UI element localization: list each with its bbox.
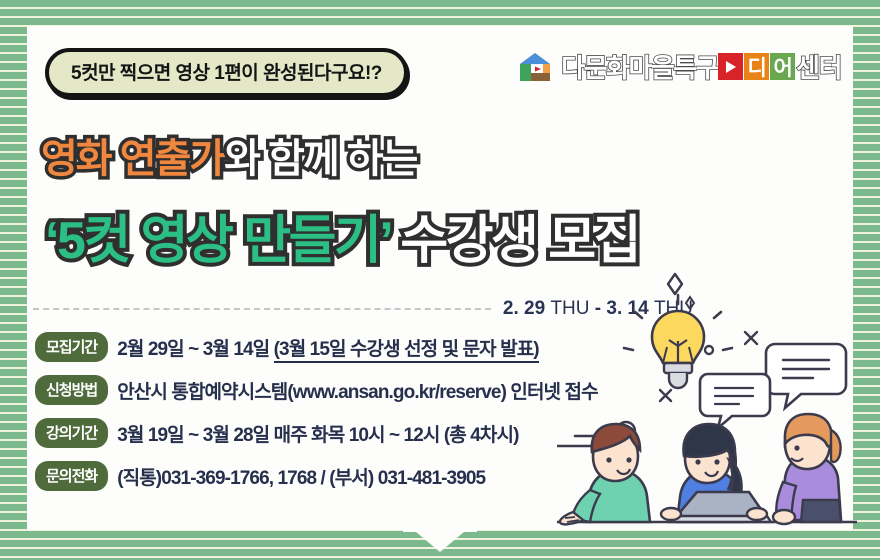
person-purple-shirt	[773, 414, 841, 524]
info-text-course-period: 3월 19일 ~ 3월 28일 매주 화목 10시 ~ 12시 (총 4차시)	[117, 420, 518, 447]
brand-media-2: 디	[744, 53, 769, 80]
info-list: 모집기간 2월 29일 ~ 3월 14일 (3월 15일 수강생 선정 및 문자…	[35, 332, 598, 491]
sparkle-icon	[668, 274, 682, 294]
poster-content: 5컷만 찍으면 영상 1편이 완성된다구요!? 다문화마을특구	[27, 26, 853, 530]
play-triangle-icon	[726, 61, 736, 73]
brand-media-3: 어	[770, 53, 795, 80]
brand-name-prefix: 다문화마을특구	[561, 48, 718, 85]
badge-recruit-period: 모집기간	[35, 332, 108, 362]
badge-contact-phone: 문의전화	[35, 461, 108, 491]
speech-bubble-small	[700, 374, 770, 428]
headline-line-1: 영화 연출가와 함께 하는	[41, 126, 416, 184]
info-row-course-period: 강의기간 3월 19일 ~ 3월 28일 매주 화목 10시 ~ 12시 (총 …	[35, 418, 598, 448]
brand-media-1	[718, 53, 743, 80]
info-row-recruit-period: 모집기간 2월 29일 ~ 3월 14일 (3월 15일 수강생 선정 및 문자…	[35, 332, 598, 362]
house-play-icon	[518, 52, 552, 82]
headline-line-1-rest: 와 함께 하는	[224, 137, 416, 181]
info-text-apply-method: 안산시 통합예약시스템(www.ansan.go.kr/reserve) 인터넷…	[117, 377, 597, 404]
brand-logo: 다문화마을특구 디 어 센터	[518, 48, 841, 85]
person-blue-shirt-laptop	[661, 424, 771, 522]
frame-bottom-notch-gap	[403, 526, 477, 532]
info-text-underlined: (3월 15일 수강생 선정 및 문자 발표)	[274, 339, 539, 363]
headline-line-1-highlight: 영화 연출가	[41, 137, 224, 181]
headline-line-2: ‘5컷 영상 만들기’ 수강생 모집	[45, 198, 639, 273]
person-green-shirt	[560, 424, 650, 524]
motion-lines	[557, 436, 595, 446]
catchphrase-pill: 5컷만 찍으면 영상 1편이 완성된다구요!?	[45, 48, 408, 97]
headline-line-2-highlight: ‘5컷 영상 만들기’	[45, 212, 390, 270]
brand-center: 센터	[796, 48, 841, 85]
headline-line-2-rest: 수강생 모집	[390, 212, 639, 270]
info-row-apply-method: 신청방법 안산시 통합예약시스템(www.ansan.go.kr/reserve…	[35, 375, 598, 405]
date-start: 2. 29	[503, 298, 545, 319]
badge-course-period: 강의기간	[35, 418, 108, 448]
dashed-divider	[33, 308, 491, 310]
info-row-contact-phone: 문의전화 (직통)031-369-1766, 1768 / (부서) 031-4…	[35, 461, 598, 491]
illustration-group	[557, 264, 857, 534]
speech-bubble-large	[766, 344, 846, 408]
poster-root: 5컷만 찍으면 영상 1편이 완성된다구요!? 다문화마을특구	[0, 0, 880, 560]
badge-apply-method: 신청방법	[35, 375, 108, 405]
info-text-contact-phone: (직통)031-369-1766, 1768 / (부서) 031-481-39…	[117, 463, 485, 490]
info-text-recruit-period: 2월 29일 ~ 3월 14일 (3월 15일 수강생 선정 및 문자 발표)	[117, 334, 539, 361]
info-text-plain: 2월 29일 ~ 3월 14일	[117, 339, 273, 360]
brand-text: 다문화마을특구 디 어 센터	[561, 48, 841, 85]
